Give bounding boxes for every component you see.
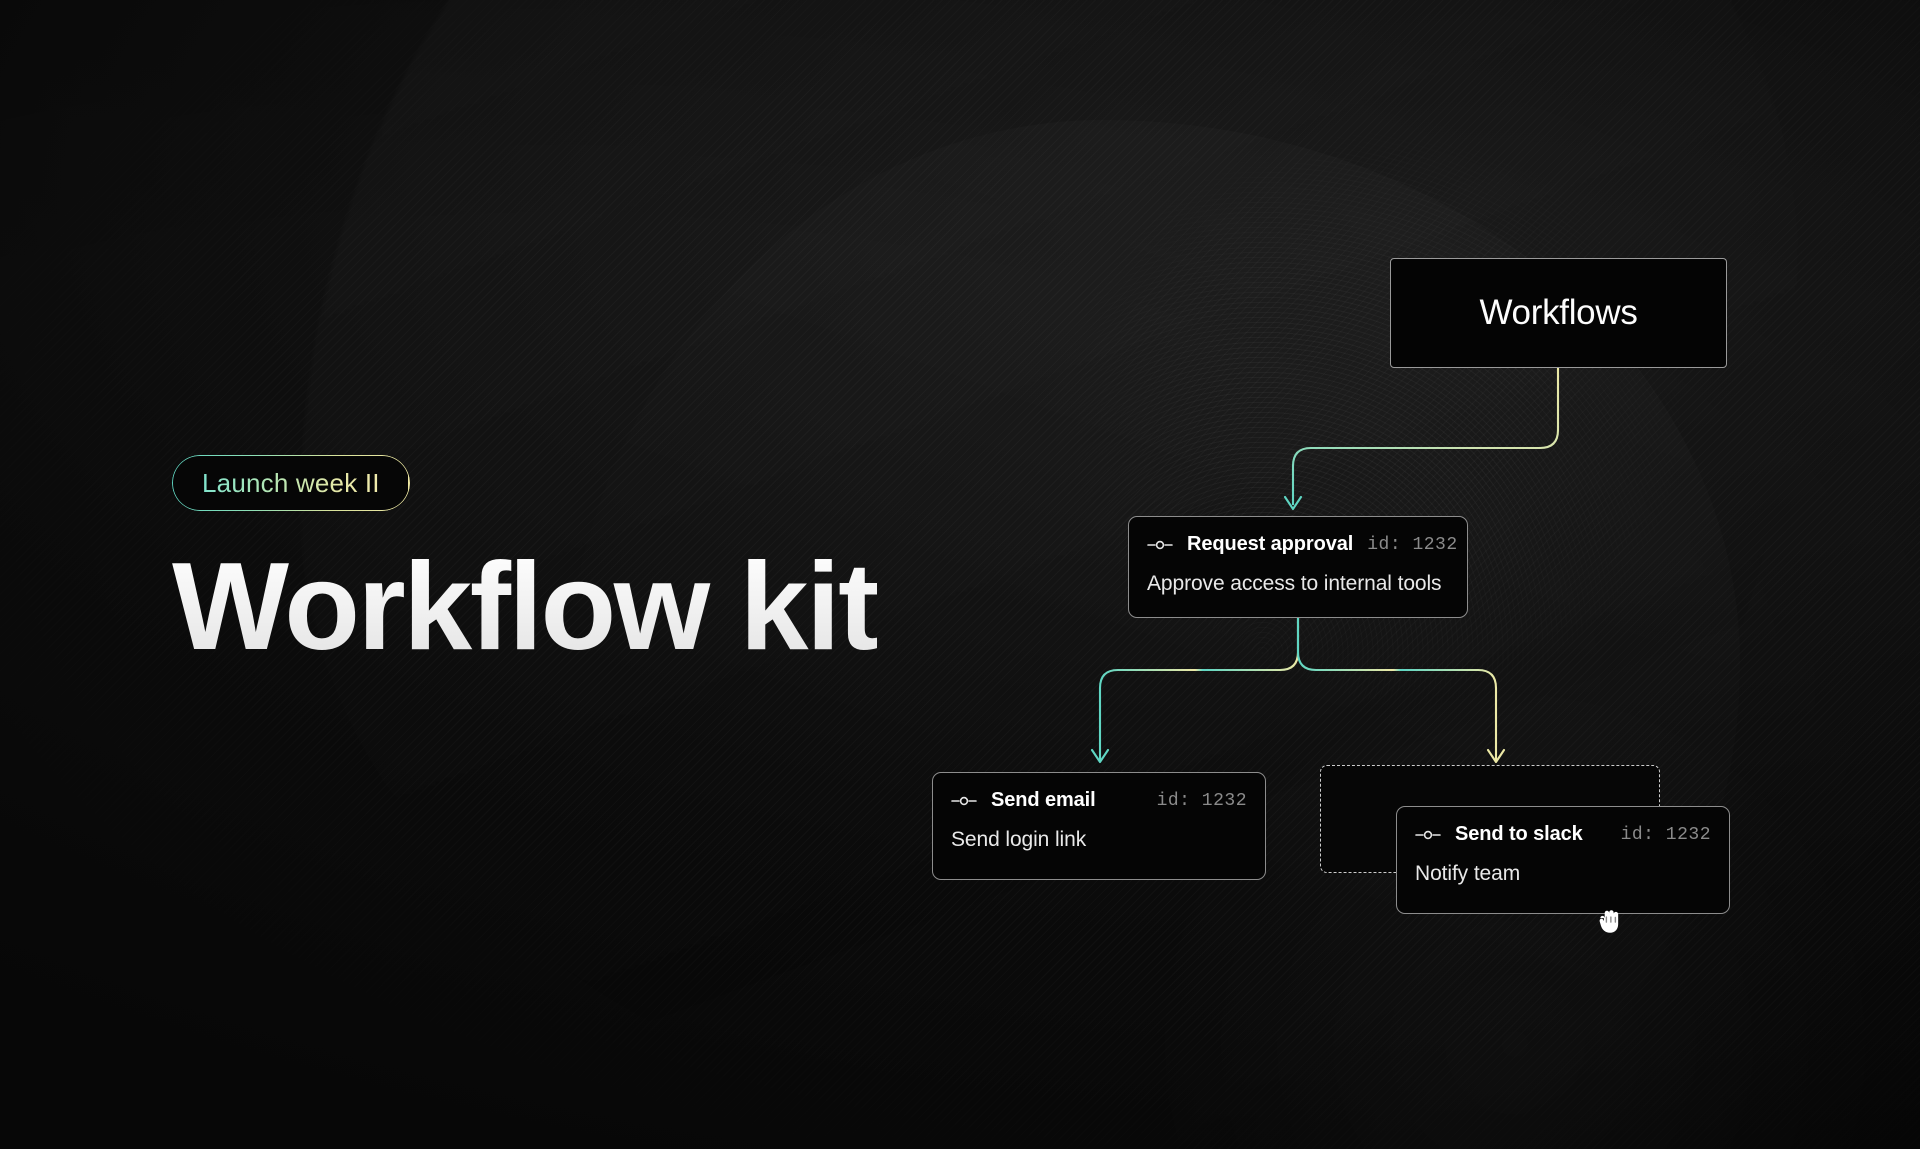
card-title: Send to slack — [1455, 823, 1583, 846]
edge-root-to-request-approval — [1293, 368, 1558, 505]
workflow-edges — [0, 0, 1920, 1149]
card-header: Send email id: 1232 — [951, 789, 1247, 812]
workflow-node-send-to-slack[interactable]: Send to slack id: 1232 Notify team — [1396, 806, 1730, 914]
node-connector-icon — [1415, 829, 1441, 841]
edge-request-to-send-email — [1100, 618, 1298, 760]
card-header: Send to slack id: 1232 — [1415, 823, 1711, 846]
workflow-kit-hero: Launch week II Workflow kit — [0, 0, 1920, 1149]
node-connector-icon — [951, 795, 977, 807]
workflow-node-root-label: Workflows — [1479, 293, 1637, 333]
card-description: Send login link — [951, 828, 1247, 852]
node-connector-icon — [1147, 539, 1173, 551]
edge-arrow-send-slack — [1488, 750, 1504, 762]
card-description: Approve access to internal tools — [1147, 572, 1449, 596]
card-id-label: id: 1232 — [1621, 825, 1711, 845]
card-header: Request approval id: 1232 — [1147, 533, 1449, 556]
card-id-label: id: 1232 — [1157, 791, 1247, 811]
workflow-node-send-email[interactable]: Send email id: 1232 Send login link — [932, 772, 1266, 880]
workflow-node-request-approval[interactable]: Request approval id: 1232 Approve access… — [1128, 516, 1468, 618]
workflow-node-root[interactable]: Workflows — [1390, 258, 1727, 368]
card-description: Notify team — [1415, 862, 1711, 886]
card-title: Send email — [991, 789, 1096, 812]
edge-arrow-request-approval — [1285, 497, 1301, 509]
card-title: Request approval — [1187, 533, 1353, 556]
card-id-label: id: 1232 — [1367, 535, 1457, 555]
edge-request-to-send-slack — [1298, 618, 1496, 760]
workflow-graph: Workflows Request approval id: 1232 Appr… — [0, 0, 1920, 1149]
edge-arrow-send-email — [1092, 750, 1108, 762]
